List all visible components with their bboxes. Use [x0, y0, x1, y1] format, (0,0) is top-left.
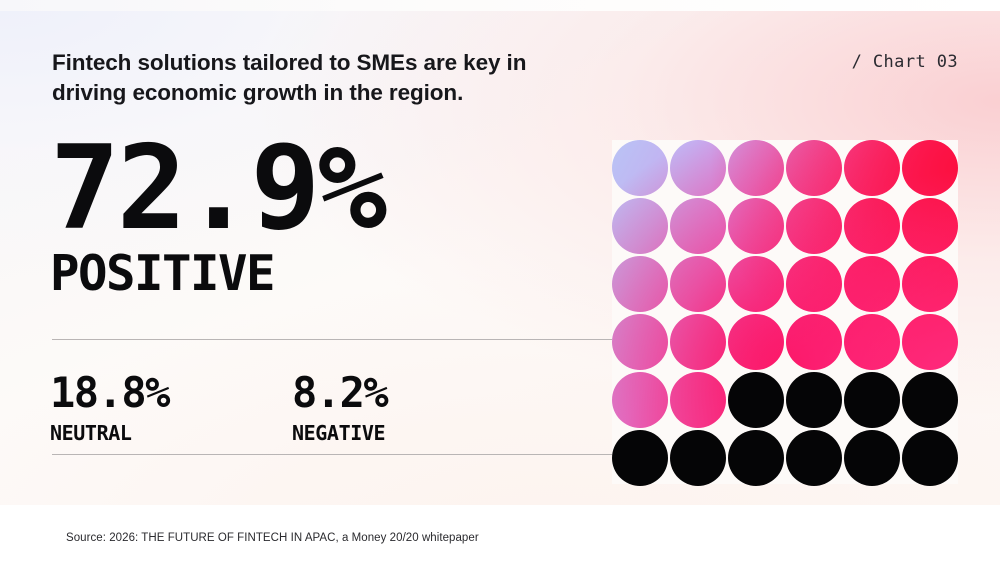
matrix-dot-empty	[786, 372, 842, 428]
source-note: Source: 2026: THE FUTURE OF FINTECH IN A…	[66, 532, 479, 544]
matrix-dot-empty	[902, 430, 958, 486]
leader-line-positive	[52, 339, 638, 340]
negative-stat-value: 8.2%	[292, 372, 387, 414]
leader-line-remainder	[52, 454, 638, 455]
hero-stat: 72.9% POSITIVE	[50, 136, 384, 298]
chart-number-label: / Chart 03	[852, 52, 958, 72]
matrix-dot-empty	[612, 430, 668, 486]
background-top-strip	[0, 0, 1000, 11]
hero-stat-label: POSITIVE	[50, 249, 384, 298]
headline-line-1: Fintech solutions tailored to SMEs are k…	[52, 50, 526, 75]
infographic-slide: Fintech solutions tailored to SMEs are k…	[0, 0, 1000, 563]
matrix-dot-empty	[728, 372, 784, 428]
matrix-mask	[612, 140, 958, 484]
neutral-stat-label: NEUTRAL	[50, 423, 169, 443]
matrix-dot-empty	[670, 430, 726, 486]
headline-line-2: driving economic growth in the region.	[52, 78, 642, 108]
negative-stat: 8.2% NEGATIVE	[292, 372, 387, 443]
matrix-dot-empty	[844, 372, 900, 428]
matrix-dot-empty	[902, 372, 958, 428]
neutral-stat: 18.8% NEUTRAL	[50, 372, 169, 443]
neutral-stat-value: 18.8%	[50, 372, 169, 414]
matrix-dot-empty	[728, 430, 784, 486]
negative-stat-label: NEGATIVE	[292, 423, 387, 443]
matrix-dot-empty	[844, 430, 900, 486]
hero-stat-value: 72.9%	[50, 136, 384, 243]
dot-matrix-chart	[612, 140, 958, 484]
matrix-dot-empty	[786, 430, 842, 486]
page-title: Fintech solutions tailored to SMEs are k…	[52, 48, 642, 108]
